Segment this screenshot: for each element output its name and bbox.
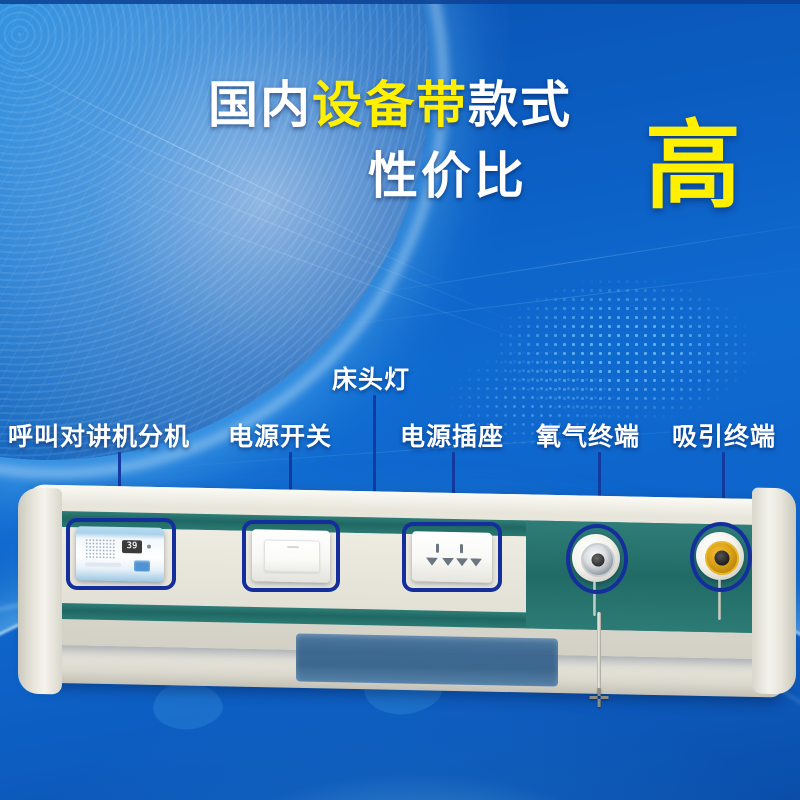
highlight-power-switch <box>242 520 340 592</box>
highlight-nurse-call-intercom <box>66 518 176 590</box>
callout-label-power-switch: 电源开关 <box>228 417 332 453</box>
callout-label-power-socket: 电源插座 <box>400 417 504 453</box>
callout-label-bed-lamp: 床头灯 <box>332 360 410 396</box>
highlight-oxygen-terminal <box>566 524 628 594</box>
headline-text-value-ratio: 性价比 <box>368 148 527 204</box>
banner-canvas: 国内设备带款式 性价比 高 呼叫对讲机分机 电源开关 床头灯 电源插座 氧气终端… <box>0 0 800 800</box>
panel-end-cap-right <box>752 488 796 695</box>
headline-text-high: 高 <box>645 118 741 214</box>
headline-text-equipment-belt: 设备带 <box>312 76 468 134</box>
top-edge-bar <box>0 0 800 4</box>
panel-end-cap-left <box>18 488 62 695</box>
highlight-power-socket <box>402 522 502 592</box>
headline-text-style: 款式 <box>468 76 572 134</box>
bed-lamp-diffuser <box>296 633 558 686</box>
callout-label-nurse-call-intercom: 呼叫对讲机分机 <box>8 417 190 453</box>
headline-line-2: 性价比 高 <box>0 148 800 222</box>
headline-text-domestic: 国内 <box>208 76 312 134</box>
highlight-suction-terminal <box>690 522 752 592</box>
callout-label-suction-terminal: 吸引终端 <box>672 417 776 453</box>
hose-connector-plug-icon: ✛ <box>588 686 610 710</box>
suction-hose-drop <box>597 612 601 694</box>
headline-block: 国内设备带款式 性价比 高 <box>0 78 800 222</box>
callout-label-oxygen-terminal: 氧气终端 <box>536 417 640 453</box>
